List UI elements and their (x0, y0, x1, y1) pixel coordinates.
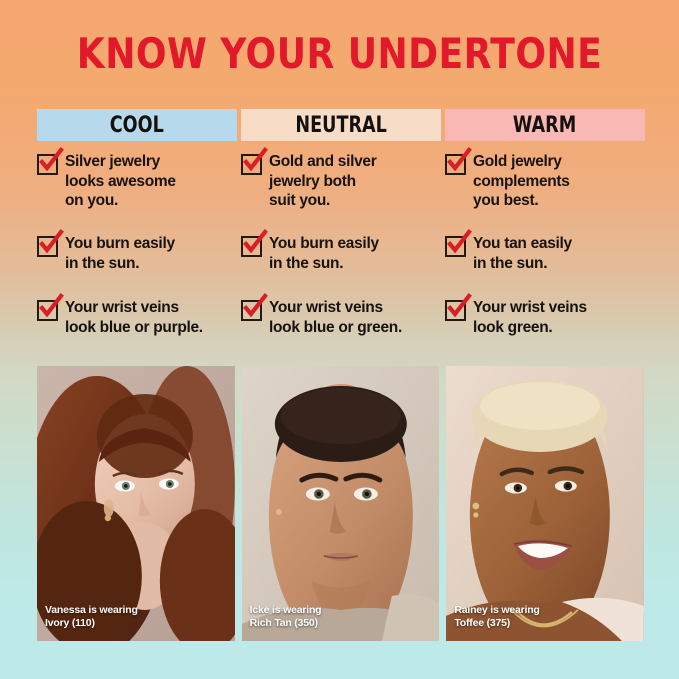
checked-checkbox-icon (37, 300, 58, 321)
list-item-label: Your wrist veins look blue or green. (269, 298, 402, 337)
checked-checkbox-icon (37, 236, 58, 257)
checked-checkbox-icon (241, 154, 262, 175)
checked-checkbox-icon (445, 300, 466, 321)
column-header-neutral-label: NEUTRAL (295, 113, 386, 138)
list-item-label: Gold jewelry complements you best. (473, 152, 570, 211)
list-item-label: Your wrist veins look green. (473, 298, 587, 337)
list-item-label: You burn easily in the sun. (269, 234, 379, 273)
list-item: Gold jewelry complements you best. (445, 152, 639, 218)
page-title: KNOW YOUR UNDERTONE (48, 30, 632, 78)
photo-caption-rainey: Rainey is wearing Toffee (375) (454, 604, 539, 629)
checklist-column-warm: Gold jewelry complements you best. You t… (445, 152, 649, 352)
model-photo-icke: Icke is wearing Rich Tan (350) (242, 366, 440, 641)
column-header-cool: COOL (37, 109, 237, 141)
checked-checkbox-icon (241, 300, 262, 321)
portrait-image-rainey (446, 366, 644, 641)
photo-caption-icke: Icke is wearing Rich Tan (350) (250, 604, 322, 629)
list-item-label: You tan easily in the sun. (473, 234, 572, 273)
list-item-label: Silver jewelry looks awesome on you. (65, 152, 176, 211)
model-photo-vanessa: Vanessa is wearing Ivory (110) (37, 366, 235, 641)
column-header-warm: WARM (445, 109, 645, 141)
column-header-warm-label: WARM (513, 113, 576, 138)
checked-checkbox-icon (37, 154, 58, 175)
list-item-label: Gold and silver jewelry both suit you. (269, 152, 376, 211)
undertone-header-row: COOL NEUTRAL WARM (37, 109, 645, 141)
column-header-cool-label: COOL (110, 113, 164, 138)
list-item-label: You burn easily in the sun. (65, 234, 175, 273)
checklist-column-neutral: Gold and silver jewelry both suit you. Y… (241, 152, 445, 352)
photo-caption-vanessa: Vanessa is wearing Ivory (110) (45, 604, 138, 629)
list-item: Your wrist veins look blue or green. (241, 298, 435, 346)
list-item: You burn easily in the sun. (241, 234, 435, 282)
list-item: Your wrist veins look blue or purple. (37, 298, 231, 346)
infographic-page: KNOW YOUR UNDERTONE COOL NEUTRAL WARM Si… (0, 0, 679, 679)
column-header-neutral: NEUTRAL (241, 109, 441, 141)
undertone-checklist-grid: Silver jewelry looks awesome on you. You… (37, 152, 649, 352)
checked-checkbox-icon (445, 154, 466, 175)
checked-checkbox-icon (445, 236, 466, 257)
list-item: Gold and silver jewelry both suit you. (241, 152, 435, 218)
checked-checkbox-icon (241, 236, 262, 257)
portrait-image-vanessa (37, 366, 235, 641)
model-photo-row: Vanessa is wearing Ivory (110) (37, 366, 644, 641)
portrait-image-icke (242, 366, 440, 641)
list-item: You burn easily in the sun. (37, 234, 231, 282)
checklist-column-cool: Silver jewelry looks awesome on you. You… (37, 152, 241, 352)
list-item: Silver jewelry looks awesome on you. (37, 152, 231, 218)
model-photo-rainey: Rainey is wearing Toffee (375) (446, 366, 644, 641)
list-item: You tan easily in the sun. (445, 234, 639, 282)
list-item-label: Your wrist veins look blue or purple. (65, 298, 203, 337)
list-item: Your wrist veins look green. (445, 298, 639, 346)
